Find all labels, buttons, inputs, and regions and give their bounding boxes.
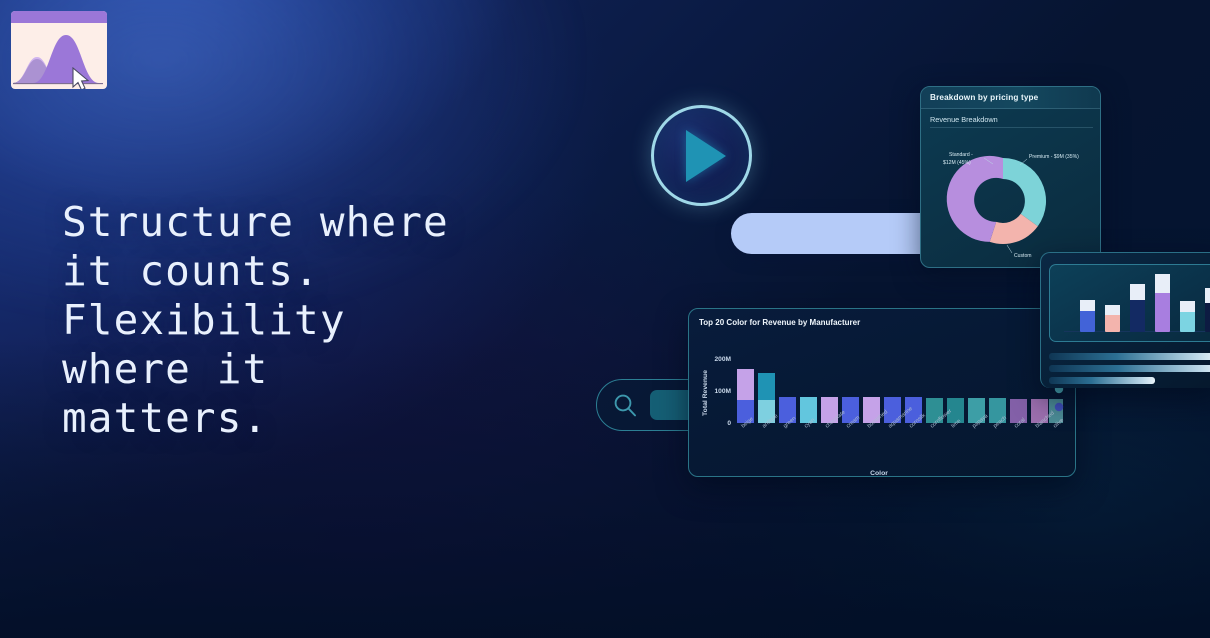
highlight-pill[interactable] [731, 213, 944, 254]
leader-line-custom [1007, 245, 1012, 253]
distribution-card[interactable] [0, 0, 96, 101]
donut-chart[interactable]: Standard - $12M (45%) Premium - $9M (35%… [937, 133, 1087, 267]
window-titlebar [11, 11, 107, 23]
acard-bar-4[interactable] [1155, 274, 1170, 332]
ytick-100m: 100M [715, 388, 732, 395]
acard-bar-cap-2 [1105, 305, 1120, 315]
acard-bar-cap-4 [1155, 274, 1170, 293]
acard-bar-6[interactable] [1205, 288, 1210, 332]
acard-bar-3[interactable] [1130, 284, 1145, 332]
donut-label-standard-line2: $12M (45%) [943, 160, 971, 166]
card-header: Breakdown by pricing type [921, 87, 1100, 109]
donut-label-premium: Premium - $9M (35%) [1029, 154, 1079, 160]
analytics-row-1[interactable] [1049, 353, 1210, 360]
pricing-breakdown-card[interactable]: Breakdown by pricing type Revenue Breakd… [920, 86, 1101, 268]
acard-bar-1[interactable] [1080, 300, 1095, 332]
analytics-row-3[interactable] [1049, 377, 1155, 384]
cursor-arrow-icon [71, 67, 91, 89]
analytics-row-2[interactable] [1049, 365, 1210, 372]
ytick-200m: 200M [715, 356, 732, 363]
distribution-plot[interactable] [11, 23, 107, 89]
ytick-0: 0 [727, 420, 731, 427]
play-button[interactable] [651, 105, 752, 206]
acard-bar-5[interactable] [1180, 301, 1195, 332]
distribution-window [11, 11, 107, 89]
card-title: Breakdown by pricing type [930, 93, 1038, 102]
slice-premium[interactable] [1003, 158, 1046, 226]
card-divider [930, 127, 1093, 128]
bar-cyan[interactable] [800, 397, 817, 423]
acard-bar-cap-1 [1080, 300, 1095, 311]
acard-bar-cap-5 [1180, 301, 1195, 312]
bar-beige-top[interactable] [737, 369, 754, 400]
acard-bar-2[interactable] [1105, 305, 1120, 332]
donut-label-standard-line1: Standard - [949, 152, 973, 158]
analytics-bar-chart[interactable] [1049, 264, 1210, 342]
search-icon [611, 391, 639, 419]
donut-label-custom: Custom [1014, 253, 1032, 259]
hero-headline: Structure where it counts. Flexibility w… [62, 198, 532, 443]
card-subtitle: Revenue Breakdown [930, 115, 998, 124]
chart-title: Top 20 Color for Revenue by Manufacturer [699, 318, 860, 327]
legend-swatch-3[interactable] [1055, 403, 1063, 411]
x-axis-title: Color [870, 470, 888, 477]
revenue-by-color-card[interactable]: Top 20 Color for Revenue by Manufacturer… [688, 308, 1076, 477]
acard-bar-cap-3 [1130, 284, 1145, 300]
bar-antique-top[interactable] [758, 373, 775, 400]
play-icon [686, 130, 726, 182]
bar-chart[interactable]: 200M 100M 0 Total Revenue Color [689, 327, 1076, 477]
y-axis-title: Total Revenue [702, 370, 709, 416]
analytics-card[interactable] [1040, 252, 1210, 388]
acard-bar-cap-6 [1205, 288, 1210, 303]
